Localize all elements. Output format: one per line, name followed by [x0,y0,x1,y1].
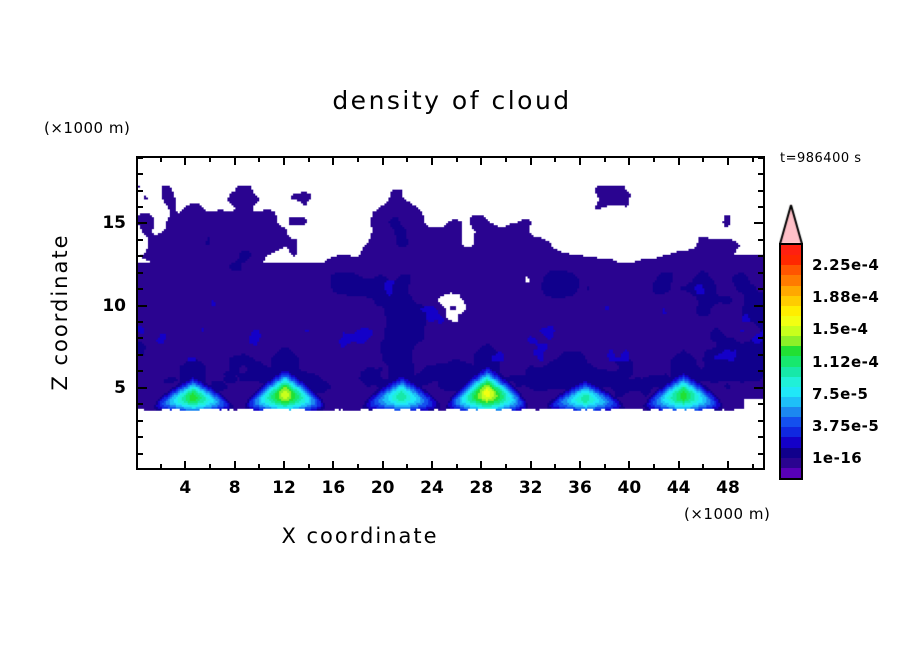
x-tick-label: 12 [272,478,296,498]
x-axis-unit-label: (×1000 m) [684,505,770,523]
x-tick-top [554,156,556,162]
x-tick-top [456,156,458,162]
x-tick-top [727,156,729,165]
y-tick-right [754,387,765,389]
y-axis-unit-label: (×1000 m) [44,119,130,137]
x-tick-top [628,156,630,165]
colorbar-label: 2.25e-4 [812,256,879,274]
timestamp-annotation: t=986400 s [780,151,862,166]
y-tick [136,272,143,274]
colorbar-band [781,458,801,468]
y-tick-right [758,403,765,405]
colorbar-band [781,417,801,427]
x-tick-top [530,156,532,165]
y-tick-right [758,370,765,372]
x-tick-top [357,156,359,162]
y-tick-right [758,255,765,257]
colorbar-band [781,367,801,377]
y-tick-right [758,288,765,290]
y-tick-label: 15 [92,213,126,233]
y-tick [136,239,143,241]
x-tick-label: 48 [716,478,740,498]
x-tick-top [604,156,606,162]
colorbar-band [781,245,801,255]
colorbar-band [781,437,801,447]
x-tick-label: 32 [519,478,543,498]
colorbar-band [781,286,801,296]
y-tick [136,403,143,405]
y-tick-right [754,222,765,224]
x-tick [579,461,581,470]
y-tick-right [754,305,765,307]
x-tick-top [234,156,236,165]
x-tick-top [332,156,334,165]
contour-plot-area [136,156,765,470]
x-tick-label: 20 [371,478,395,498]
y-tick [136,354,143,356]
y-tick [136,173,143,175]
x-tick-top [184,156,186,165]
x-tick [283,461,285,470]
colorbar-band [781,336,801,346]
colorbar-band [781,346,801,356]
colorbar-band [781,306,801,316]
y-tick [136,288,143,290]
y-tick-right [758,272,765,274]
colorbar-band [781,316,801,326]
colorbar-label: 1.5e-4 [812,320,868,338]
x-tick [308,464,310,470]
x-tick-top [678,156,680,165]
y-tick [136,436,143,438]
y-tick-label: 5 [92,378,126,398]
x-tick-label: 4 [179,478,191,498]
colorbar-band [781,407,801,417]
x-tick [234,461,236,470]
x-tick-top [505,156,507,162]
x-tick-top [480,156,482,165]
x-tick [357,464,359,470]
colorbar-band [781,275,801,285]
x-tick-label: 8 [229,478,241,498]
y-tick [136,305,147,307]
y-tick [136,420,143,422]
y-tick-right [758,321,765,323]
x-tick [382,461,384,470]
x-tick [554,464,556,470]
colorbar-band [781,468,801,478]
x-tick-top [406,156,408,162]
y-tick-right [758,453,765,455]
y-tick-right [758,190,765,192]
x-tick [727,461,729,470]
y-tick [136,321,143,323]
x-tick [505,464,507,470]
x-tick-top [209,156,211,162]
y-tick [136,206,143,208]
colorbar-label: 1.12e-4 [812,353,879,371]
colorbar-band [781,427,801,437]
x-tick-top [283,156,285,165]
y-tick-label: 10 [92,296,126,316]
y-tick [136,453,143,455]
x-tick [431,461,433,470]
colorbar-band [781,265,801,275]
y-tick-right [758,206,765,208]
y-tick [136,157,143,159]
x-tick [456,464,458,470]
colorbar-band [781,296,801,306]
colorbar-label: 1.88e-4 [812,288,879,306]
x-tick-top [160,156,162,162]
colorbar-band [781,255,801,265]
y-tick-right [758,157,765,159]
x-tick-top [258,156,260,162]
x-tick-label: 28 [469,478,493,498]
x-tick-label: 36 [568,478,592,498]
x-tick [530,461,532,470]
figure-root: density of cloud (×1000 m) (×1000 m) X c… [0,0,904,654]
y-tick-right [758,436,765,438]
x-axis-title: X coordinate [0,524,720,548]
x-tick [752,464,754,470]
y-axis-title: Z coordinate [48,212,72,412]
x-tick [480,461,482,470]
colorbar-band [781,448,801,458]
x-tick-top [579,156,581,165]
colorbar-label: 3.75e-5 [812,417,879,435]
x-tick-top [308,156,310,162]
colorbar-band [781,326,801,336]
x-tick-top [702,156,704,162]
colorbar-band [781,387,801,397]
x-tick [184,461,186,470]
y-tick [136,222,147,224]
x-tick [209,464,211,470]
x-tick [678,461,680,470]
y-tick [136,370,143,372]
x-tick [258,464,260,470]
colorbar-band [781,356,801,366]
y-tick-right [758,337,765,339]
y-tick [136,190,143,192]
y-tick-right [758,354,765,356]
cloud-density-field [138,158,763,468]
x-tick [604,464,606,470]
y-tick [136,255,143,257]
x-tick-top [382,156,384,165]
colorbar-band [781,377,801,387]
colorbar [779,243,803,480]
x-tick-label: 40 [617,478,641,498]
x-tick [406,464,408,470]
x-tick-top [431,156,433,165]
x-tick-label: 16 [321,478,345,498]
x-tick [653,464,655,470]
y-tick [136,337,143,339]
x-tick-label: 24 [420,478,444,498]
y-tick-right [758,420,765,422]
x-tick [160,464,162,470]
colorbar-band [781,397,801,407]
x-tick-label: 44 [667,478,691,498]
colorbar-label: 7.5e-5 [812,385,868,403]
y-tick [136,387,147,389]
page-title: density of cloud [0,86,904,115]
x-tick-top [752,156,754,162]
y-tick-right [758,173,765,175]
x-tick [628,461,630,470]
x-tick [332,461,334,470]
colorbar-overflow-arrow [779,204,803,244]
y-tick-right [758,239,765,241]
colorbar-label: 1e-16 [812,449,862,467]
x-tick-top [653,156,655,162]
x-tick [702,464,704,470]
